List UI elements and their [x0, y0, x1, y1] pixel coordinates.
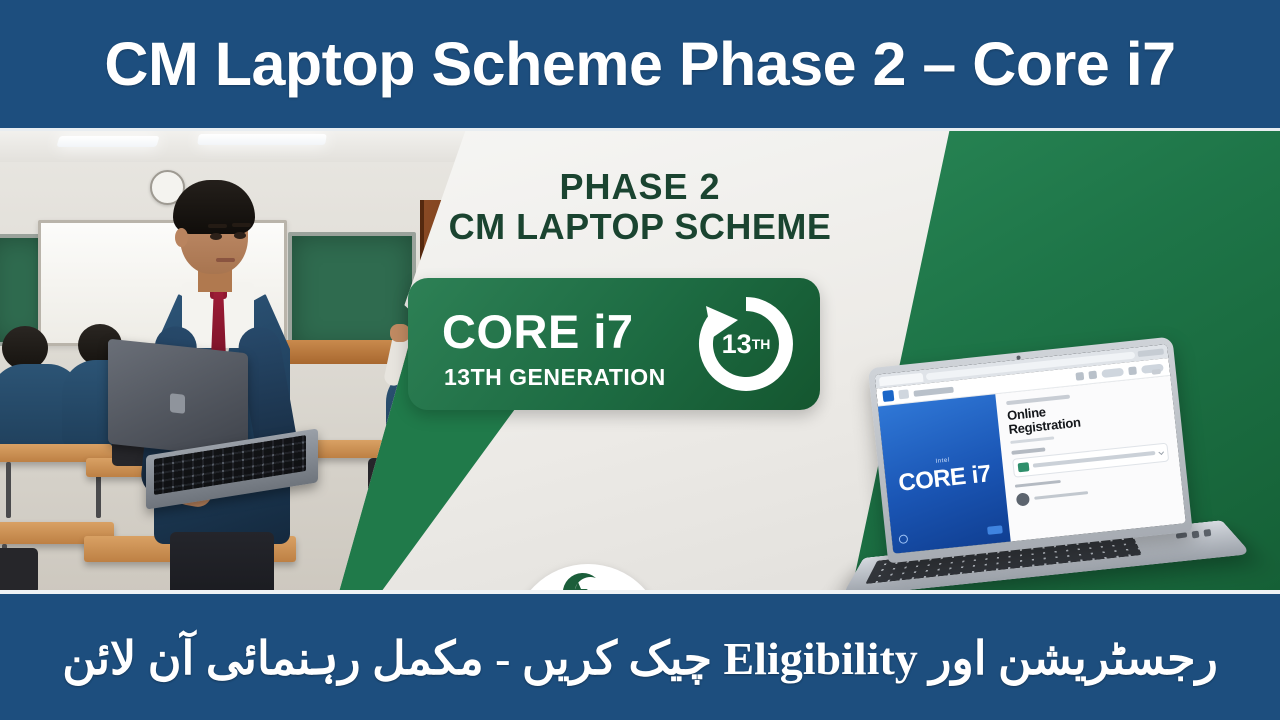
- student-eye: [234, 232, 246, 239]
- header-banner: CM Laptop Scheme Phase 2 – Core i7: [0, 0, 1280, 128]
- carried-laptop: [108, 346, 318, 506]
- ceiling-light-icon: [56, 136, 159, 147]
- screen-body: Intel CORE i7 Online Registration: [878, 376, 1186, 554]
- document-icon: [1017, 462, 1029, 472]
- student-brow: [208, 224, 227, 228]
- laptop-lid: Intel CORE i7 Online Registration: [868, 336, 1193, 563]
- system-clock: [1138, 348, 1164, 357]
- form-input-value: [1032, 451, 1155, 467]
- form-field-label: [1011, 447, 1045, 454]
- chair: [0, 548, 38, 594]
- form-section-label: [1014, 480, 1060, 488]
- avatar: [1015, 492, 1029, 506]
- usb-port: [1176, 532, 1188, 538]
- media-band: PHASE 2 CM LAPTOP SCHEME CORE i7 13TH GE…: [0, 128, 1280, 594]
- laptop-screen: Intel CORE i7 Online Registration: [875, 344, 1186, 554]
- ceiling-light-icon: [197, 134, 327, 145]
- print-icon[interactable]: [1128, 366, 1137, 375]
- intel-mark-icon: [898, 534, 908, 544]
- share-icon[interactable]: [1088, 370, 1097, 379]
- app-logo-icon: [882, 390, 894, 402]
- intel-tag-badge: [987, 525, 1003, 535]
- intel-brand-label: Intel: [935, 457, 950, 464]
- intel-core-label: CORE i7: [897, 462, 992, 496]
- student-eye: [210, 233, 222, 240]
- student-trousers: [170, 532, 274, 594]
- seated-student-body: [386, 368, 470, 468]
- page-title: CM Laptop Scheme Phase 2 – Core i7: [104, 34, 1175, 95]
- app-name-label: [913, 386, 953, 396]
- form-subtitle-text: [1010, 436, 1054, 444]
- chevron-down-icon[interactable]: [1158, 449, 1164, 455]
- laptop-scheme-poster: CM Laptop Scheme Phase 2 – Core i7: [0, 0, 1280, 720]
- footer-banner: رجسٹریشن اور Eligibility چیک کریں - مکمل…: [0, 598, 1280, 720]
- raised-hand: [390, 324, 410, 342]
- more-options-icon[interactable]: [1101, 367, 1124, 377]
- intel-core-panel: Intel CORE i7: [878, 394, 1010, 553]
- student-brow: [232, 223, 251, 227]
- form-status-badge: [1152, 369, 1161, 375]
- registration-form-panel: Online Registration: [995, 376, 1186, 542]
- laptop-logo-icon: [170, 393, 185, 414]
- desk-leg: [6, 462, 11, 518]
- student-mouth: [216, 258, 235, 262]
- usb-port: [1192, 531, 1200, 539]
- registration-laptop-mockup: Intel CORE i7 Online Registration: [868, 333, 1232, 594]
- chair: [368, 458, 426, 520]
- usb-port: [1203, 529, 1211, 537]
- edit-icon[interactable]: [1075, 371, 1084, 380]
- menu-icon[interactable]: [898, 389, 909, 399]
- user-name-label: [1034, 491, 1088, 500]
- footer-caption: رجسٹریشن اور Eligibility چیک کریں - مکمل…: [62, 635, 1218, 683]
- toolbar-spacer: [958, 377, 1070, 389]
- band-top-divider: [0, 128, 1280, 131]
- classroom-photo: [0, 128, 470, 594]
- student-ear: [175, 228, 188, 247]
- band-bottom-divider: [0, 590, 1280, 594]
